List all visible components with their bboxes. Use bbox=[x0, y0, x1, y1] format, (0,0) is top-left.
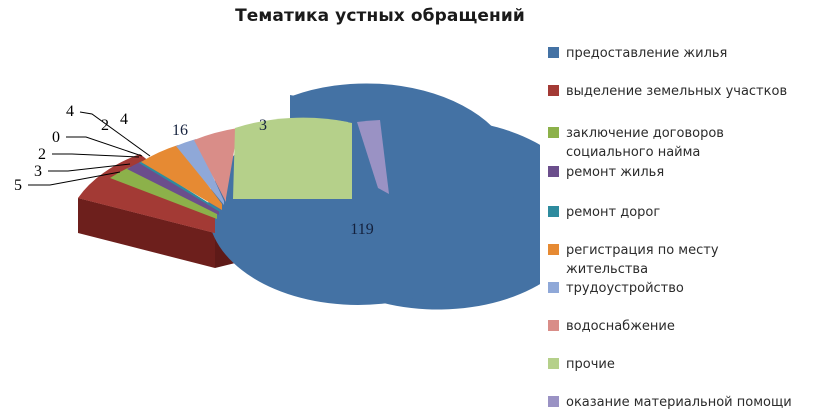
pie-plot-area: 119 16 3 5 3 2 0 4 2 4 bbox=[0, 38, 540, 420]
legend-item-zaklyuchenie-dogovorov[interactable]: заключение договоров социального найма bbox=[548, 124, 821, 162]
legend-item-materialnaya-pomosch[interactable]: оказание материальной помощи bbox=[548, 393, 821, 412]
legend-swatch-icon bbox=[548, 166, 559, 177]
callout-label-remont-dorog: 0 bbox=[52, 129, 60, 146]
legend-item-vydelenie-zemelnyh[interactable]: выделение земельных участков bbox=[548, 82, 821, 101]
callout-label-trudoustroystvo: 2 bbox=[101, 117, 109, 134]
slice-prochie[interactable] bbox=[233, 118, 352, 199]
legend-swatch-icon bbox=[548, 47, 559, 58]
legend-item-label: выделение земельных участков bbox=[566, 82, 787, 101]
slice-label-prochie: 16 bbox=[172, 122, 188, 139]
legend-item-label: прочие bbox=[566, 355, 615, 374]
legend-item-trudoustroystvo[interactable]: трудоустройство bbox=[548, 279, 821, 298]
legend-item-label: заключение договоров социального найма bbox=[566, 124, 724, 162]
legend-item-label: ремонт дорог bbox=[566, 203, 660, 222]
legend-item-prochie[interactable]: прочие bbox=[548, 355, 821, 374]
legend-item-remont-dorog[interactable]: ремонт дорог bbox=[548, 203, 821, 222]
chart-title: Тематика устных обращений bbox=[0, 6, 760, 26]
callout-label-registraciya: 4 bbox=[66, 103, 74, 120]
legend-swatch-icon bbox=[548, 244, 559, 255]
callout-label-vydelenie: 5 bbox=[14, 177, 22, 194]
legend-item-predostavlenie-zhilya[interactable]: предоставление жилья bbox=[548, 44, 821, 63]
callout-label-zaklyuchenie: 3 bbox=[34, 163, 42, 180]
legend-swatch-icon bbox=[548, 320, 559, 331]
legend-item-label: трудоустройство bbox=[566, 279, 684, 298]
legend-item-vodosnabzhenie[interactable]: водоснабжение bbox=[548, 317, 821, 336]
legend-swatch-icon bbox=[548, 358, 559, 369]
legend-swatch-icon bbox=[548, 206, 559, 217]
legend-item-label: предоставление жилья bbox=[566, 44, 727, 63]
callout-label-remont-zhilya: 2 bbox=[38, 146, 46, 163]
legend-item-label: регистрация по месту жительства bbox=[566, 241, 719, 279]
legend-swatch-icon bbox=[548, 282, 559, 293]
pie-svg: 119 16 3 5 3 2 0 4 2 4 bbox=[0, 38, 540, 420]
callout-label-vodosnabzhenie: 4 bbox=[120, 111, 128, 128]
slice-label-predostavlenie: 119 bbox=[350, 221, 373, 238]
legend-item-registraciya[interactable]: регистрация по месту жительства bbox=[548, 241, 821, 279]
slice-label-materialnaya-pomosch: 3 bbox=[259, 117, 267, 134]
legend-item-label: ремонт жилья bbox=[566, 163, 664, 182]
legend-item-label: водоснабжение bbox=[566, 317, 675, 336]
pie-chart-figure: Тематика устных обращений bbox=[0, 0, 821, 420]
legend-swatch-icon bbox=[548, 396, 559, 407]
legend-item-remont-zhilya[interactable]: ремонт жилья bbox=[548, 163, 821, 182]
legend-swatch-icon bbox=[548, 85, 559, 96]
chart-legend: предоставление жилья выделение земельных… bbox=[548, 44, 821, 416]
legend-swatch-icon bbox=[548, 127, 559, 138]
legend-item-label: оказание материальной помощи bbox=[566, 393, 792, 412]
